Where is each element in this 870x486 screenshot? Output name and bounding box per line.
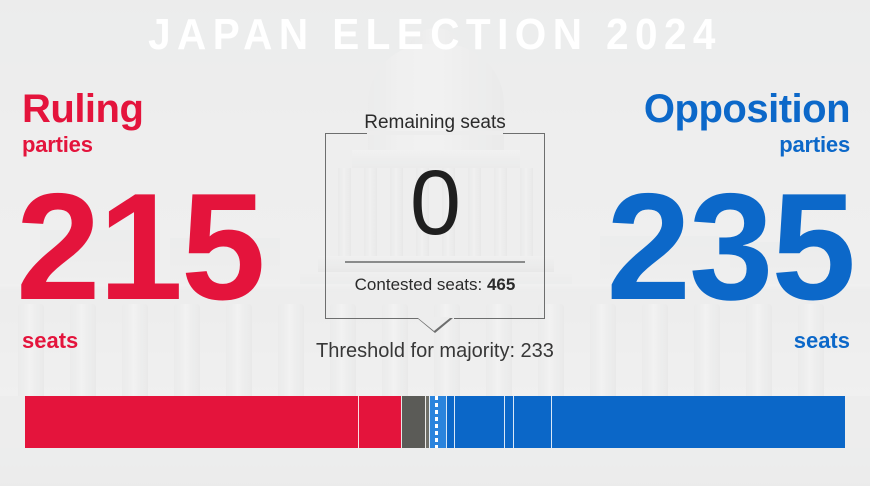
opposition-parties-panel: Opposition parties 235 seats — [606, 88, 850, 354]
callout-divider — [345, 261, 525, 263]
remaining-seats-value: 0 — [325, 155, 545, 251]
seat-bar-segment-opposition-main — [551, 396, 845, 448]
opposition-seat-count: 235 — [606, 172, 854, 322]
contested-seats-label: Contested seats: — [355, 275, 483, 294]
seat-bar-segment-ruling-main — [25, 396, 358, 448]
seat-distribution-bar — [25, 396, 845, 448]
remaining-seats-label: Remaining seats — [325, 111, 545, 135]
threshold-caption: Threshold for majority: 233 — [0, 338, 870, 364]
callout-pointer-fill — [418, 318, 450, 331]
ruling-seat-count: 215 — [16, 172, 264, 322]
seat-bar-segment-opposition-d — [504, 396, 514, 448]
seat-bar-segment-opposition-a — [429, 396, 446, 448]
ruling-parties-panel: Ruling parties 215 seats — [22, 88, 264, 354]
contested-seats-value: 465 — [487, 275, 515, 294]
opposition-parties-name: Opposition — [606, 88, 850, 130]
seat-bar-segment-opposition-e — [513, 396, 551, 448]
contested-seats-row: Contested seats: 465 — [325, 274, 545, 296]
infographic-stage: JAPAN ELECTION 2024 Ruling parties 215 s… — [0, 0, 870, 486]
page-title: JAPAN ELECTION 2024 — [35, 8, 835, 62]
seat-bar-segment-ruling-partner — [358, 396, 401, 448]
seat-bar-segment-opposition-b — [446, 396, 454, 448]
ruling-parties-name: Ruling — [22, 88, 264, 130]
opposition-parties-sub: parties — [606, 130, 850, 160]
seat-bar-segment-others-large — [401, 396, 425, 448]
ruling-parties-sub: parties — [22, 130, 264, 160]
majority-threshold-marker — [435, 396, 438, 448]
remaining-seats-callout: Remaining seats 0 Contested seats: 465 — [325, 133, 545, 319]
seat-bar-segment-opposition-c — [454, 396, 504, 448]
